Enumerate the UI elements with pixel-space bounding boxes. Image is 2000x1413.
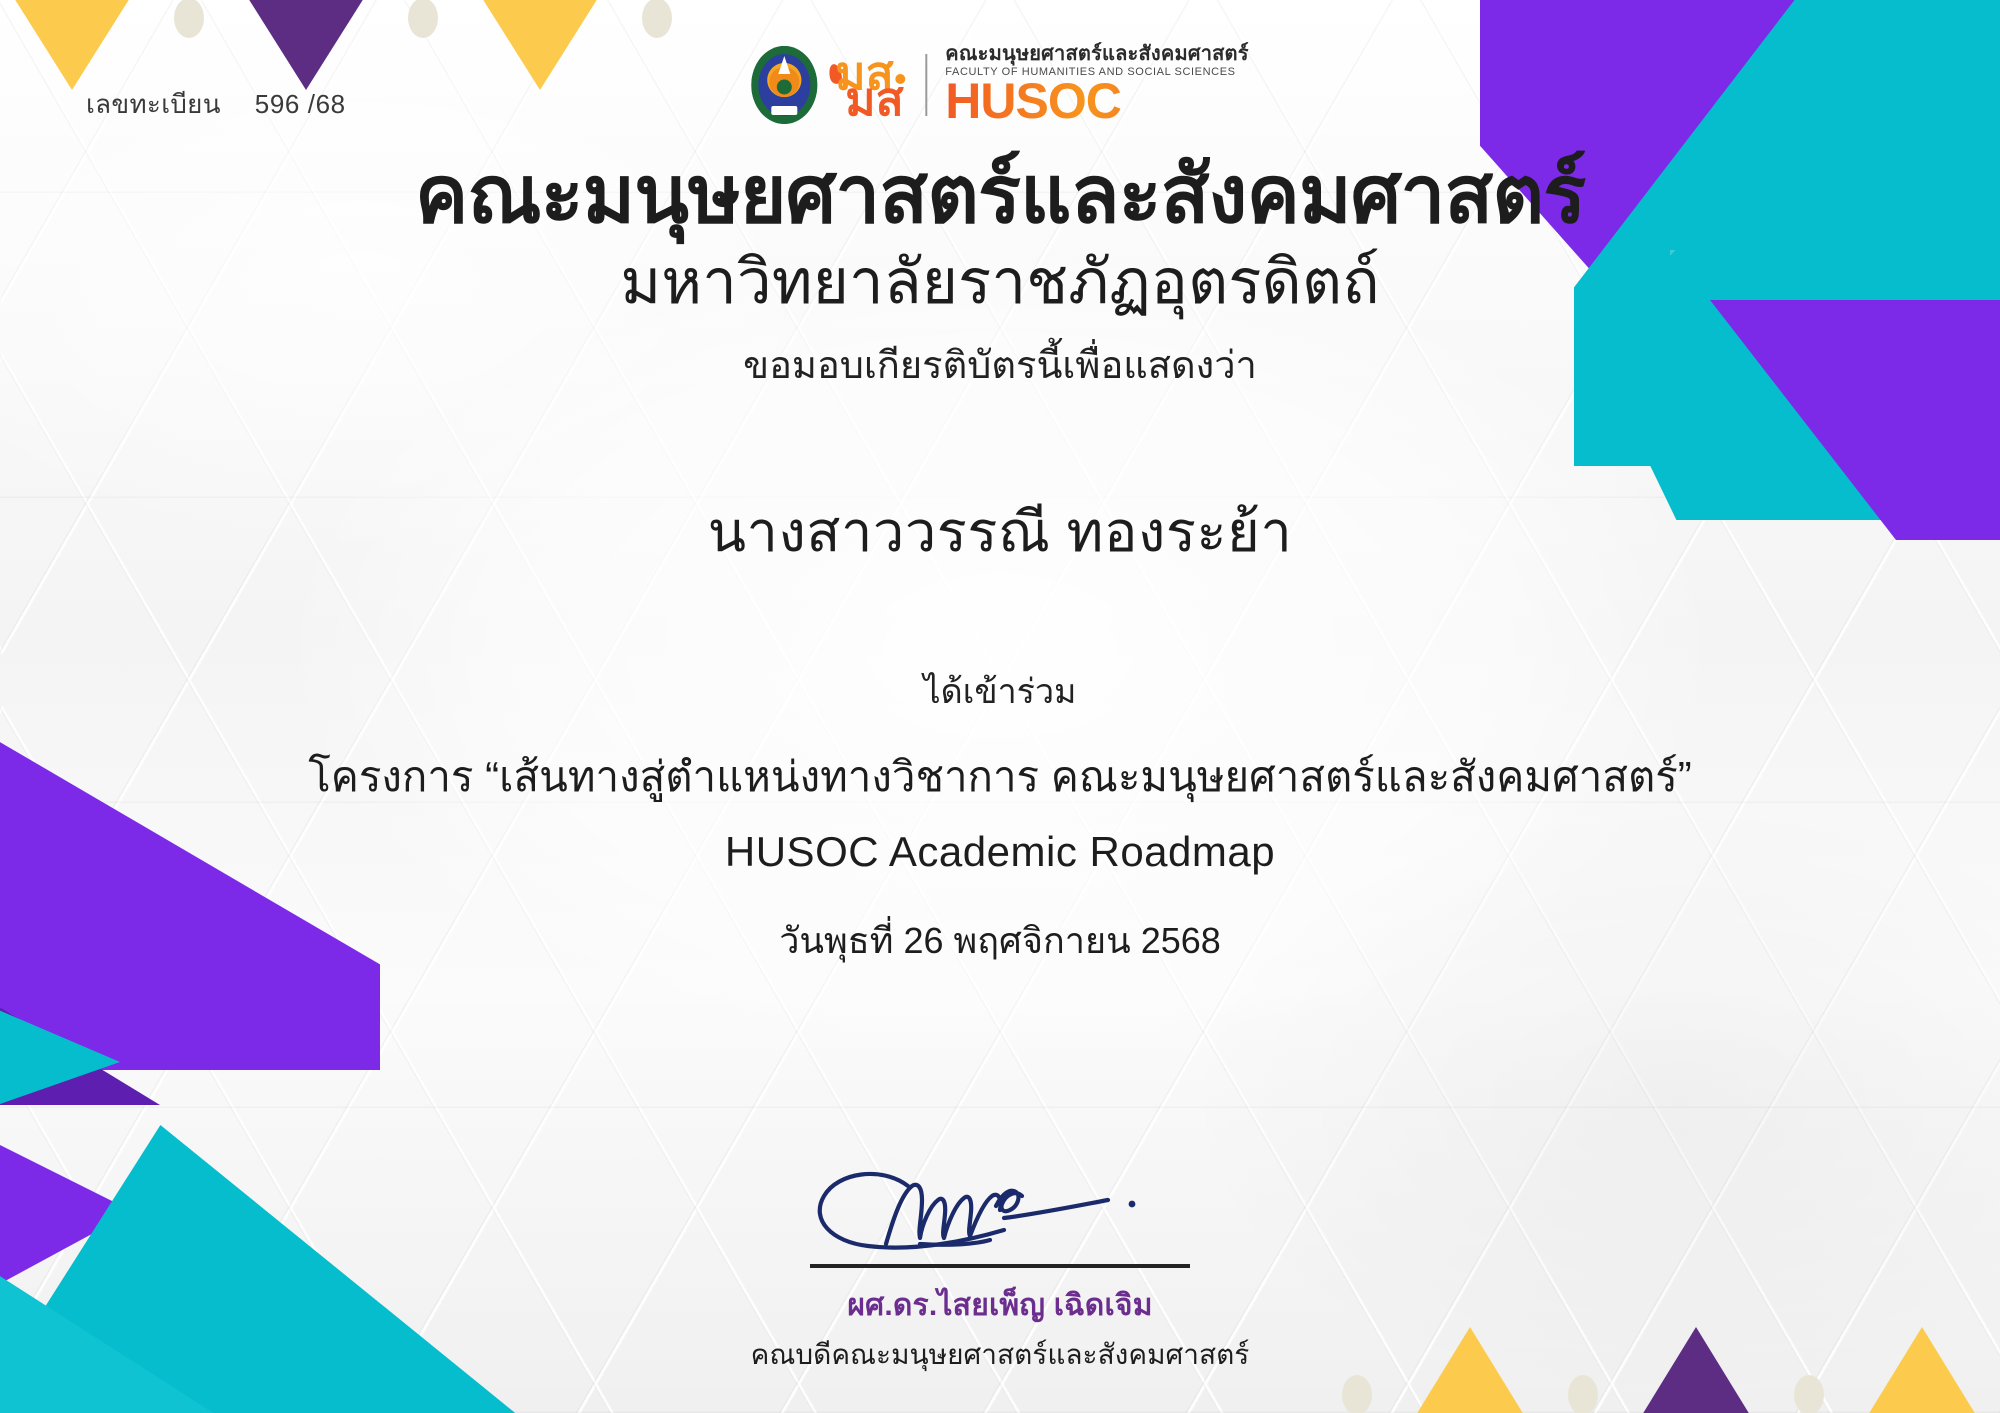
pennant-yellow-icon: [482, 0, 598, 90]
signature-line: [810, 1264, 1190, 1268]
pennant-dot-icon: [642, 0, 672, 38]
bottom-pennant-row: [1342, 1327, 1976, 1413]
logo-divider: [925, 54, 927, 116]
certificate-body: คณะมนุษยศาสตร์และสังคมศาสตร์ มหาวิทยาลัย…: [0, 150, 2000, 969]
signatory-role: คณบดีคณะมนุษยศาสตร์และสังคมศาสตร์: [720, 1333, 1280, 1377]
project-title-thai: โครงการ “เส้นทางสู่ตำแหน่งทางวิชาการ คณะ…: [0, 744, 2000, 810]
pennant-dot-icon: [1568, 1375, 1598, 1413]
award-statement: ขอมอบเกียรติบัตรนี้เพื่อแสดงว่า: [0, 334, 2000, 395]
pennant-yellow-icon: [14, 0, 130, 90]
pennant-purple-icon: [248, 0, 364, 90]
thai-monogram-icon: มส มส: [829, 50, 907, 120]
handwritten-signature-icon: [790, 1160, 1210, 1270]
registration-label: เลขทะเบียน: [86, 89, 221, 119]
pennant-dot-icon: [1342, 1375, 1372, 1413]
participation-label: ได้เข้าร่วม: [0, 664, 2000, 718]
logo-text-block: คณะมนุษยศาสตร์และสังคมศาสตร์ FACULTY OF …: [945, 44, 1248, 126]
registration-number: เลขทะเบียน596 /68: [86, 84, 346, 125]
page-title: คณะมนุษยศาสตร์และสังคมศาสตร์: [0, 150, 2000, 240]
university-name: มหาวิทยาลัยราชภัฏอุตรดิตถ์: [0, 246, 2000, 320]
top-pennant-row: [14, 0, 672, 90]
pennant-yellow-icon: [1868, 1327, 1976, 1413]
pennant-dot-icon: [1794, 1375, 1824, 1413]
logo-wordmark: HUSOC: [945, 77, 1248, 126]
registration-value: 596 /68: [255, 89, 346, 119]
pennant-dot-icon: [408, 0, 438, 38]
monogram-glyph-bottom: มส: [845, 76, 903, 122]
project-title-english: HUSOC Academic Roadmap: [0, 828, 2000, 876]
event-date: วันพุธที่ 26 พฤศจิกายน 2568: [0, 912, 2000, 969]
husoc-logo-lockup: มส มส คณะมนุษยศาสตร์และสังคมศาสตร์ FACUL…: [733, 38, 1266, 132]
university-seal-icon: [751, 46, 817, 124]
certificate-canvas: เลขทะเบียน596 /68 มส มส คณะมนุษยศาสตร์แล…: [0, 0, 2000, 1413]
pennant-yellow-icon: [1416, 1327, 1524, 1413]
logo-faculty-thai: คณะมนุษยศาสตร์และสังคมศาสตร์: [945, 44, 1248, 65]
signatory-name: ผศ.ดร.ไสยเพ็ญ เฉิดเจิม: [720, 1282, 1280, 1329]
signature-block: ผศ.ดร.ไสยเพ็ญ เฉิดเจิม คณบดีคณะมนุษยศาสต…: [720, 1160, 1280, 1377]
recipient-name: นางสาววรรณี ทองระย้า: [0, 487, 2000, 576]
pennant-dot-icon: [174, 0, 204, 38]
pennant-purple-icon: [1642, 1327, 1750, 1413]
